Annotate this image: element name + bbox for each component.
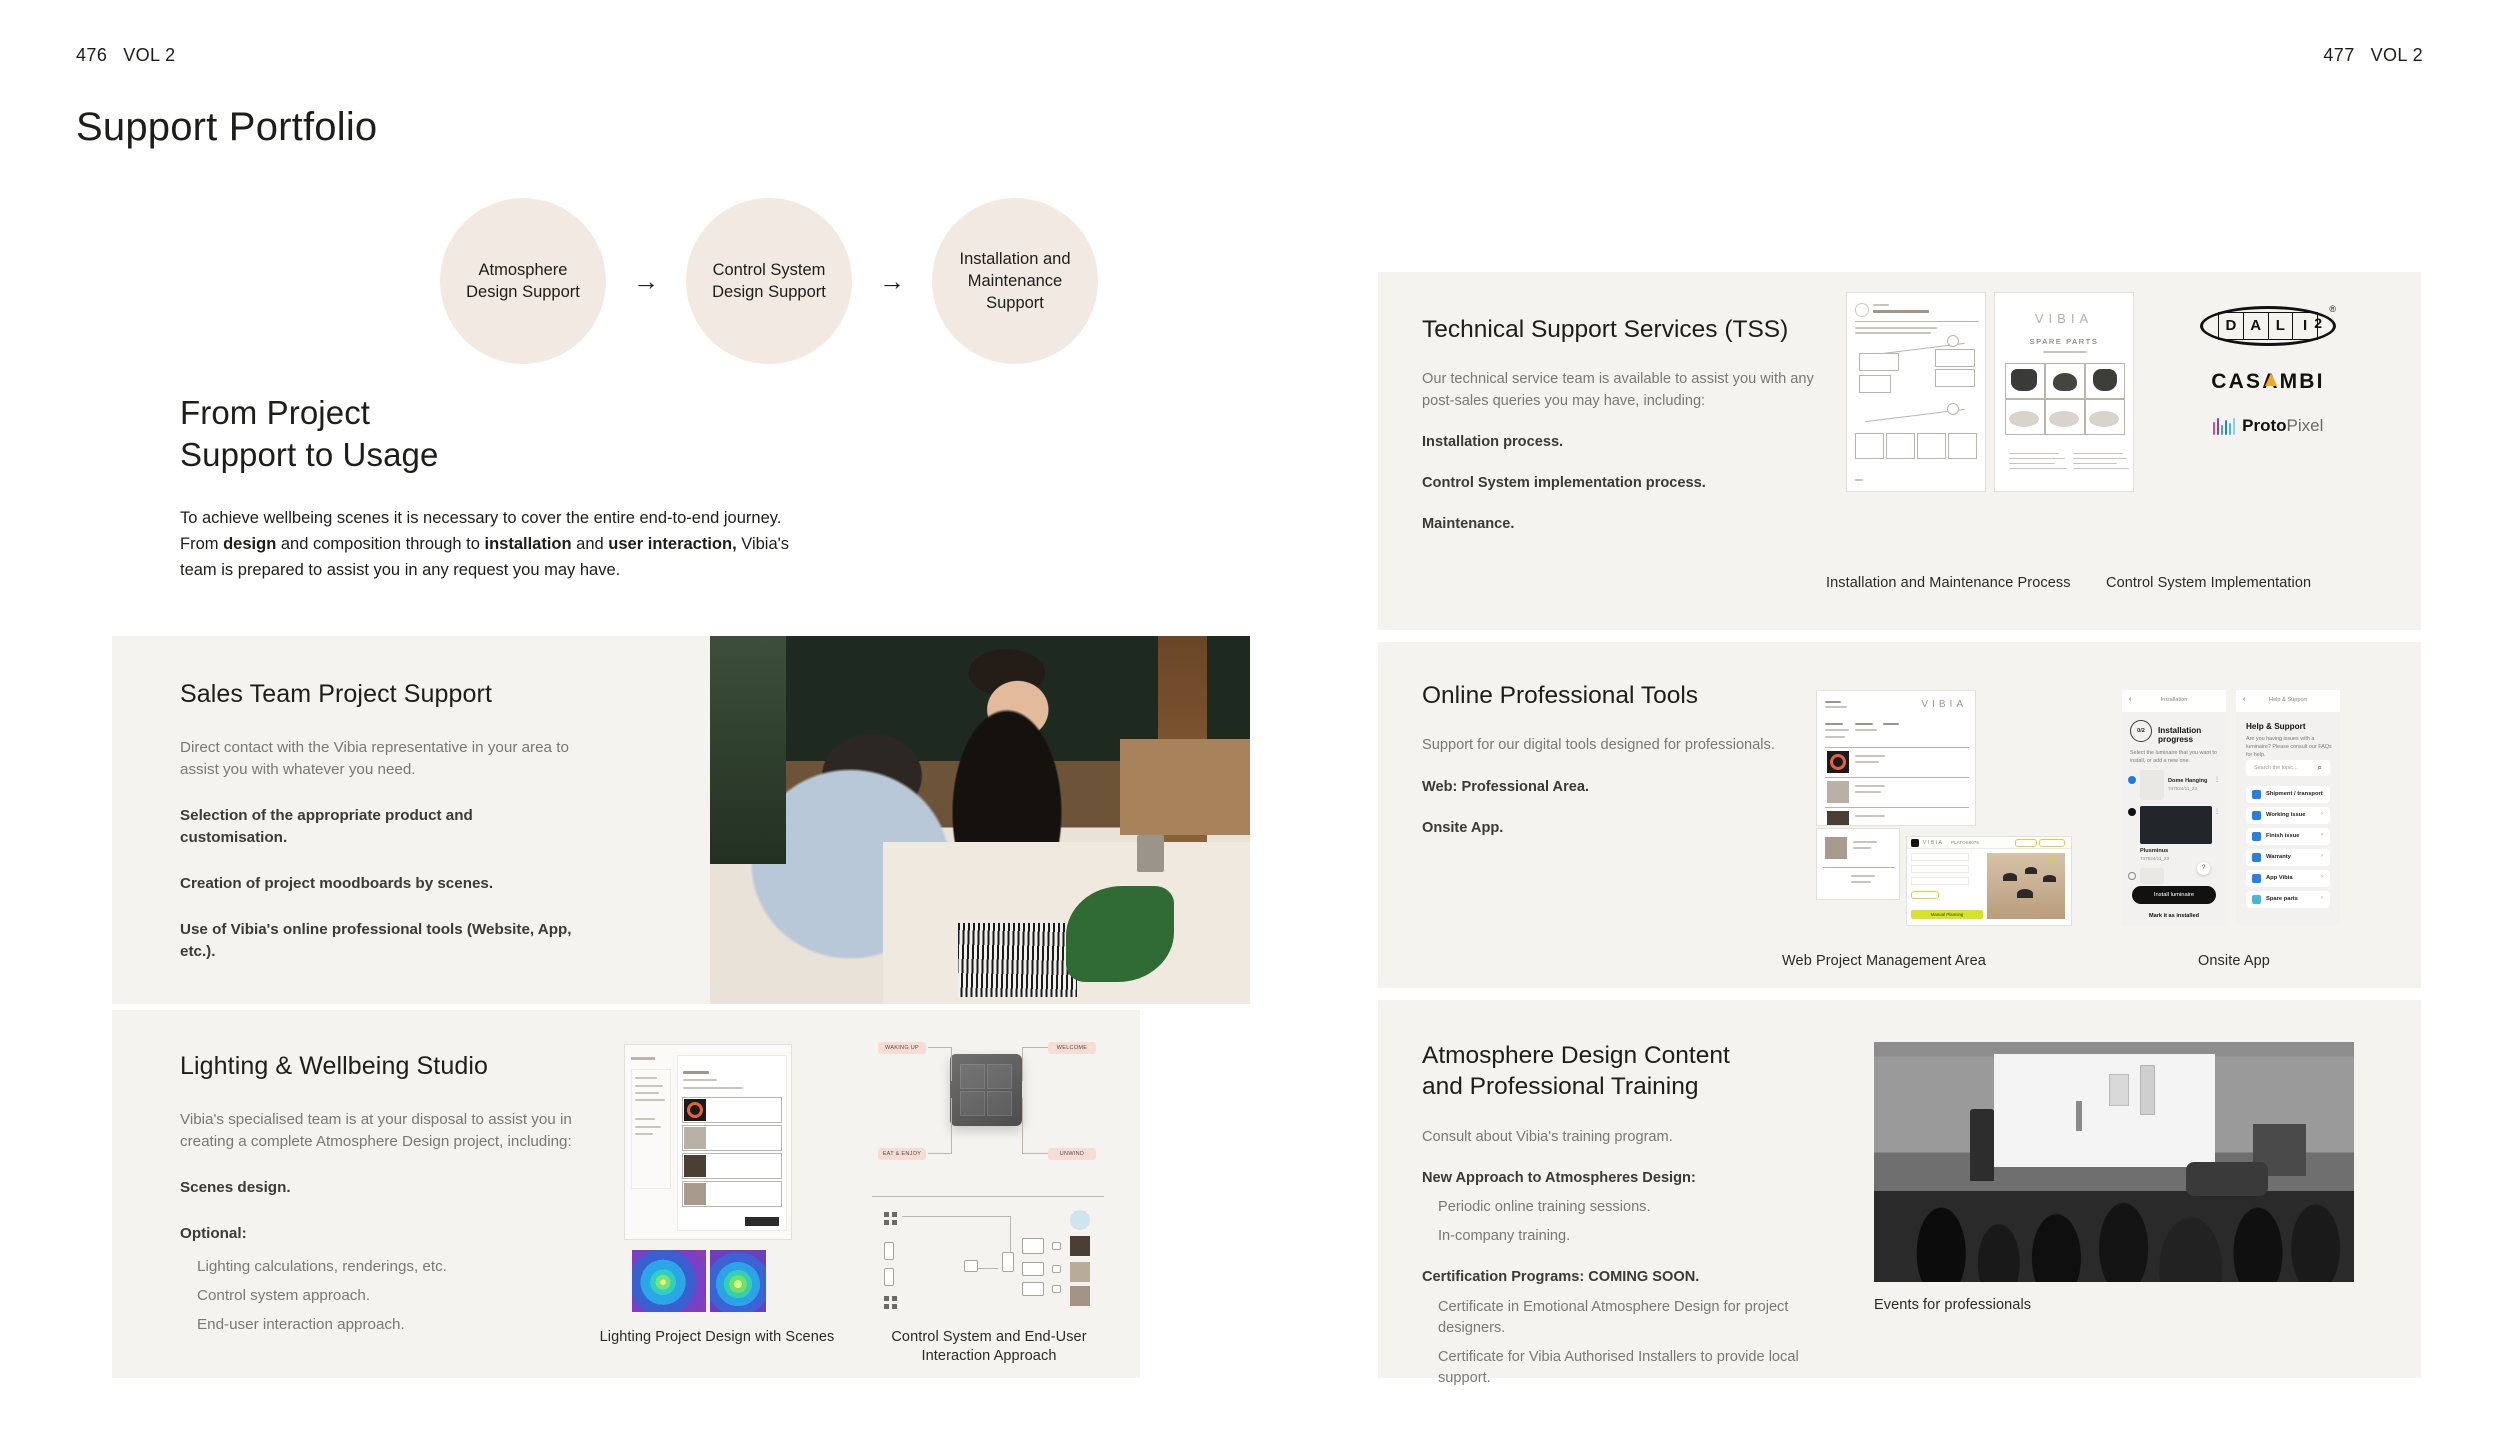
- app2-sub: Are you having issues with a luminaire? …: [2246, 736, 2332, 759]
- chevron-right-icon: ›: [2321, 790, 2323, 796]
- training-heading-line2: and Professional Training: [1422, 1073, 1698, 1100]
- tools-bullet-app: Onsite App.: [1422, 818, 1814, 839]
- tss-bullet-2: Control System implementation process.: [1422, 473, 1814, 494]
- app2-row-1-label: Shipment / transport: [2266, 791, 2323, 797]
- app1-item-1-menu-icon[interactable]: ⋮: [2214, 776, 2220, 783]
- intro-heading: From Project Support to Usage: [180, 392, 820, 476]
- training-group-1-item-1: Periodic online training sessions.: [1438, 1197, 1814, 1218]
- intro-heading-line2: Support to Usage: [180, 436, 438, 473]
- process-step-3: Installation and Maintenance Support: [932, 198, 1098, 364]
- tools-bullet-web: Web: Professional Area.: [1422, 777, 1814, 798]
- tss-lead: Our technical service team is available …: [1422, 369, 1814, 411]
- process-arrow-2-icon: →: [852, 268, 932, 294]
- card-sales-bullet-2: Creation of project moodboards by scenes…: [180, 873, 580, 895]
- app2-nav-title: Help & Support: [2236, 697, 2340, 703]
- training-group-2-title: Certification Programs: COMING SOON.: [1422, 1267, 1814, 1288]
- app1-cta-install-luminaire[interactable]: Install luminaire: [2132, 886, 2216, 904]
- process-step-1: Atmosphere Design Support: [440, 198, 606, 364]
- card-studio-heading: Lighting & Wellbeing Studio: [180, 1052, 580, 1081]
- sheet-brand-vibia: VIBIA: [1995, 311, 2133, 326]
- app1-item-1-code: 747524/11_23: [2168, 786, 2197, 791]
- card-sales-team: Sales Team Project Support Direct contac…: [112, 636, 1140, 1004]
- process-step-2-label: Control System Design Support: [712, 259, 826, 304]
- chevron-right-icon: ›: [2321, 853, 2323, 859]
- app2-row-4-label: Warranty: [2266, 854, 2291, 860]
- caption-control-system: Control System and End-User Interaction …: [864, 1328, 1114, 1366]
- tss-bullet-1: Installation process.: [1422, 432, 1814, 453]
- card-sales-lead: Direct contact with the Vibia representa…: [180, 737, 580, 781]
- app1-item-2-menu-icon[interactable]: ⋮: [2214, 808, 2220, 815]
- app2-row-working-issue[interactable]: Working issue ›: [2246, 807, 2330, 824]
- process-step-1-label: Atmosphere Design Support: [466, 259, 580, 304]
- app2-search-placeholder: Search the topic...: [2254, 765, 2297, 771]
- protocol-logos: DALI 2 ® CASAMBI ProtoPixel: [2163, 306, 2373, 436]
- intro-text-2: and composition through to: [276, 535, 484, 553]
- protopixel-bars-icon: [2213, 418, 2236, 435]
- finish-issue-icon: [2252, 832, 2261, 841]
- panel-online-professional-tools: Online Professional Tools Support for ou…: [1378, 642, 2421, 988]
- onsite-app-help-support-screen: ‹ Help & Support Help & Support Are you …: [2236, 690, 2340, 926]
- app1-heading: Installation progress: [2158, 726, 2226, 744]
- caption-lighting-project: Lighting Project Design with Scenes: [572, 1328, 862, 1347]
- panel-atmosphere-design-training: Atmosphere Design Content and Profession…: [1378, 1000, 2421, 1378]
- sales-team-photo: [710, 636, 1250, 1004]
- search-icon[interactable]: ⌕: [2318, 763, 2322, 773]
- spread-page: 476VOL 2 477VOL 2 Support Portfolio Atmo…: [0, 0, 2499, 1448]
- photo-model-figure: [2076, 1101, 2083, 1130]
- folio-left-number: 476: [76, 45, 107, 65]
- lighting-falsecolor-render-2: [710, 1250, 766, 1312]
- app1-radio-selected[interactable]: [2128, 776, 2136, 784]
- photo-lamp-2: [2140, 1065, 2155, 1115]
- web-brand-vibia: VIBIA: [1921, 699, 1967, 710]
- page-title: Support Portfolio: [76, 105, 377, 150]
- app1-thumb-dome: [2140, 770, 2164, 800]
- events-photo: [1874, 1042, 2354, 1282]
- app1-secondary-mark-installed[interactable]: Mark it as installed: [2122, 913, 2226, 919]
- installation-instruction-sheet: [1846, 292, 1986, 492]
- app1-radio-3[interactable]: [2128, 872, 2136, 880]
- process-arrow-1-icon: →: [606, 268, 686, 294]
- scene-tag-unwind: UNWIND: [1048, 1148, 1096, 1160]
- tools-heading: Online Professional Tools: [1422, 680, 1814, 711]
- chevron-right-icon: ›: [2321, 895, 2323, 901]
- app2-heading: Help & Support: [2246, 722, 2306, 731]
- lighting-project-screen: [624, 1044, 792, 1240]
- folio-right-volume: VOL 2: [2371, 45, 2423, 65]
- protopixel-logo: ProtoPixel: [2163, 416, 2373, 436]
- network-topology-diagram: [872, 1208, 1112, 1316]
- scene-tag-welcome: WELCOME: [1048, 1042, 1096, 1054]
- scene-tag-waking-up: WAKING UP: [878, 1042, 926, 1054]
- photo-window: [710, 636, 786, 864]
- caption-events-for-professionals: Events for professionals: [1874, 1296, 2031, 1315]
- training-lead: Consult about Vibia's training program.: [1422, 1127, 1814, 1148]
- folio-left-volume: VOL 2: [123, 45, 175, 65]
- spare-parts-sheet: VIBIA SPARE PARTS: [1994, 292, 2134, 492]
- scene-tag-eat-enjoy: EAT & ENJOY: [878, 1148, 926, 1160]
- intro-bold-user-interaction: user interaction,: [608, 535, 736, 553]
- training-heading: Atmosphere Design Content and Profession…: [1422, 1040, 1814, 1103]
- caption-installation-maintenance: Installation and Maintenance Process: [1826, 574, 2071, 593]
- web-cta-manual-planning[interactable]: Manual Planning: [1911, 910, 1983, 919]
- process-step-3-label: Installation and Maintenance Support: [960, 248, 1071, 315]
- tss-bullet-3: Maintenance.: [1422, 514, 1814, 535]
- app1-sub: Select the luminaire that you want to in…: [2130, 750, 2218, 766]
- control-system-diagram: WAKING UP WELCOME EAT & ENJOY UNWIND: [872, 1036, 1104, 1168]
- process-step-2: Control System Design Support: [686, 198, 852, 364]
- card-sales-bullet-1: Selection of the appropriate product and…: [180, 805, 580, 849]
- app1-help-icon[interactable]: ?: [2197, 862, 2210, 875]
- app2-row-spare-parts[interactable]: Spare parts ›: [2246, 891, 2330, 908]
- process-diagram: Atmosphere Design Support → Control Syst…: [440, 198, 1098, 364]
- wall-keypad: [950, 1054, 1022, 1126]
- card-studio-sub-2: Control system approach.: [197, 1285, 580, 1307]
- caption-onsite-app: Onsite App: [2198, 952, 2270, 971]
- web-project-code: PLATOS8076: [1951, 840, 1979, 845]
- app1-radio-2[interactable]: [2128, 808, 2136, 816]
- dali-registered-icon: ®: [2329, 304, 2336, 314]
- panel-technical-support-services: Technical Support Services (TSS) Our tec…: [1378, 272, 2421, 630]
- card-sales-heading: Sales Team Project Support: [180, 680, 580, 709]
- protopixel-light: Pixel: [2287, 416, 2324, 435]
- photo-moodboard: [958, 923, 1077, 997]
- dali-superscript: 2: [2314, 315, 2322, 331]
- shipment-icon: [2252, 790, 2261, 799]
- app2-row-finish-issue[interactable]: Finish issue ›: [2246, 828, 2330, 845]
- photo-speaker-figure: [1970, 1109, 1994, 1181]
- web-project-list-continued: [1816, 828, 1900, 900]
- photo-lamp-1: [2109, 1074, 2129, 1106]
- working-issue-icon: [2252, 811, 2261, 820]
- onsite-app-installation-screen: ‹ Installation 0/2 Installation progress…: [2122, 690, 2226, 926]
- sheet-title-spare-parts: SPARE PARTS: [1995, 337, 2133, 346]
- lighting-falsecolor-render-1: [632, 1250, 706, 1312]
- app2-row-3-label: Finish issue: [2266, 833, 2300, 839]
- folio-right: 477VOL 2: [2323, 45, 2423, 66]
- training-group-2-item-2: Certificate for Vibia Authorised Install…: [1438, 1347, 1814, 1389]
- protopixel-bold: Proto: [2242, 416, 2286, 435]
- app1-item-1-name: Dome Hanging: [2168, 778, 2207, 784]
- spare-parts-icon: [2252, 895, 2261, 904]
- app2-row-5-label: App Vibia: [2266, 875, 2293, 881]
- dali-logo: DALI 2 ®: [2200, 306, 2336, 346]
- chevron-right-icon: ›: [2321, 811, 2323, 817]
- app2-row-warranty[interactable]: Warranty ›: [2246, 849, 2330, 866]
- intro-block: From Project Support to Usage To achieve…: [180, 392, 820, 583]
- intro-paragraph: To achieve wellbeing scenes it is necess…: [180, 506, 820, 583]
- folio-left: 476VOL 2: [76, 45, 176, 66]
- chevron-right-icon: ›: [2321, 832, 2323, 838]
- app2-row-shipment[interactable]: Shipment / transport ›: [2246, 786, 2330, 803]
- folio-right-number: 477: [2323, 45, 2354, 65]
- tools-lead: Support for our digital tools designed f…: [1422, 735, 1814, 756]
- training-group-1-title: New Approach to Atmospheres Design:: [1422, 1168, 1814, 1189]
- app2-row-6-label: Spare parts: [2266, 896, 2298, 902]
- caption-web-project-management: Web Project Management Area: [1782, 952, 1986, 971]
- app1-thumb-plusminus: [2140, 806, 2212, 844]
- intro-text-3: and: [572, 535, 609, 553]
- app2-row-2-label: Working issue: [2266, 812, 2306, 818]
- card-studio-lead: Vibia's specialised team is at your disp…: [180, 1109, 580, 1153]
- training-group-2-item-1: Certificate in Emotional Atmosphere Desi…: [1438, 1297, 1814, 1339]
- photo-floor: [1120, 739, 1250, 835]
- photo-cup: [1137, 835, 1164, 872]
- chevron-right-icon: ›: [2321, 874, 2323, 880]
- app2-row-app-vibia[interactable]: App Vibia ›: [2246, 870, 2330, 887]
- training-heading-line1: Atmosphere Design Content: [1422, 1042, 1730, 1069]
- card-studio-bullet-scenes: Scenes design.: [180, 1177, 580, 1199]
- app1-item-2-code: 747524/11_23: [2140, 856, 2169, 861]
- app2-search-input[interactable]: Search the topic... ⌕: [2246, 760, 2330, 776]
- app-vibia-icon: [2252, 874, 2261, 883]
- web-project-management-screen: VIBIA: [1816, 690, 1976, 826]
- photo-sofa: [2186, 1162, 2268, 1196]
- app1-item-2-name: Plusminus: [2140, 848, 2168, 854]
- casambi-logo: CASAMBI: [2163, 370, 2373, 394]
- intro-bold-installation: installation: [485, 535, 572, 553]
- app1-nav-title: Installation: [2122, 697, 2226, 703]
- warranty-icon: [2252, 853, 2261, 862]
- intro-bold-design: design: [223, 535, 276, 553]
- card-studio-sub-1: Lighting calculations, renderings, etc.: [197, 1256, 580, 1278]
- card-sales-bullet-3: Use of Vibia's online professional tools…: [180, 919, 580, 963]
- card-studio-bullet-optional: Optional:: [180, 1223, 580, 1245]
- card-lighting-wellbeing-studio: Lighting & Wellbeing Studio Vibia's spec…: [112, 1010, 1140, 1378]
- card-studio-sub-3: End-user interaction approach.: [197, 1314, 580, 1336]
- photo-projection-screen: [1994, 1054, 2215, 1167]
- intro-heading-line1: From Project: [180, 394, 370, 431]
- web-3d-planner-screen: VIBIA PLATOS8076 Manual Planning: [1906, 836, 2072, 926]
- caption-control-system-implementation: Control System Implementation: [2106, 574, 2311, 593]
- training-group-1-item-2: In-company training.: [1438, 1226, 1814, 1247]
- tss-heading: Technical Support Services (TSS): [1422, 314, 1814, 345]
- casambi-accent-icon: A: [2262, 370, 2279, 393]
